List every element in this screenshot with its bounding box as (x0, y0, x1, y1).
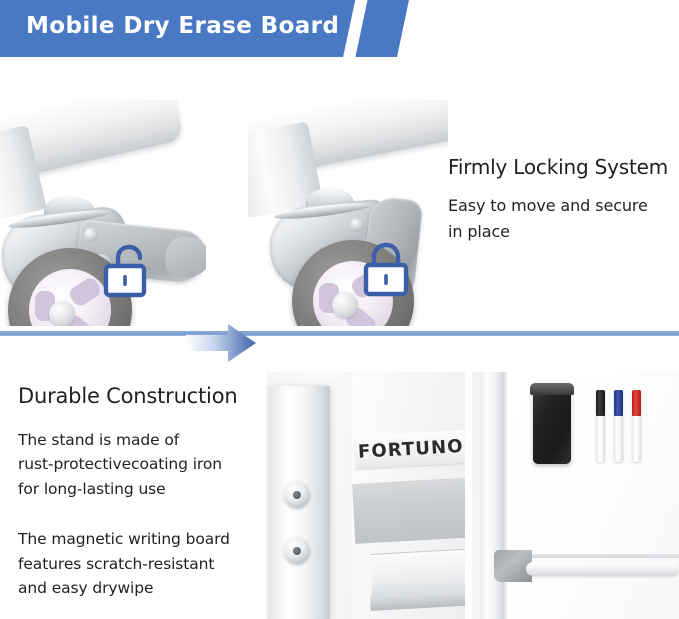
marker-red (632, 390, 641, 462)
eraser-accessory (533, 386, 571, 464)
caster-wheel-cap (49, 301, 75, 326)
paragraph-2-line-1: The magnetic writing board (18, 527, 264, 551)
durable-construction-section: Durable Construction The stand is made o… (0, 372, 679, 619)
stand-knob-lower (284, 538, 310, 564)
paragraph-1-line-2: rust-protectivecoating iron (18, 452, 264, 476)
durable-construction-text-block: Durable Construction The stand is made o… (18, 384, 264, 601)
caster-rivet (84, 228, 98, 242)
locking-system-heading: Firmly Locking System (448, 155, 674, 180)
whiteboard-bottom-rail (507, 554, 679, 558)
whiteboard-pen-tray (526, 562, 679, 576)
marker-cap (632, 390, 641, 416)
stand-knob-upper (284, 482, 310, 508)
locking-system-text-block: Firmly Locking System Easy to move and s… (448, 155, 674, 245)
arrow-right-icon (186, 322, 256, 368)
stand-photo: FORTUNO (266, 372, 465, 619)
paragraph-2-line-2: features scratch-resistant (18, 552, 264, 576)
padlock-closed-icon (362, 240, 412, 302)
header-banner: Mobile Dry Erase Board (0, 0, 409, 57)
locking-system-body-line-2: in place (448, 219, 674, 245)
locking-system-section: Firmly Locking System Easy to move and s… (0, 100, 679, 333)
stand-vertical-post (268, 386, 330, 619)
caster-photo-locked (248, 100, 448, 326)
page-title: Mobile Dry Erase Board (26, 13, 339, 39)
paragraph-2-line-3: and easy drywipe (18, 576, 264, 600)
padlock-open-icon (102, 242, 156, 304)
durable-construction-paragraph-2: The magnetic writing board features scra… (18, 527, 264, 600)
paragraph-1-line-1: The stand is made of (18, 428, 264, 452)
durable-construction-heading: Durable Construction (18, 384, 264, 408)
marker-black (596, 390, 605, 462)
stand-gray-crossbar (352, 478, 465, 544)
paragraph-1-line-3: for long-lasting use (18, 477, 264, 501)
whiteboard-photo (472, 372, 679, 619)
marker-cap (614, 390, 623, 416)
locking-system-body-line-1: Easy to move and secure (448, 193, 674, 219)
durable-construction-paragraph-1: The stand is made of rust-protectivecoat… (18, 428, 264, 501)
brand-label: FORTUNO (358, 436, 465, 463)
section-divider (0, 331, 679, 336)
wheel-spoke (67, 276, 103, 309)
locking-system-body: Easy to move and secure in place (448, 193, 674, 245)
marker-blue (614, 390, 623, 462)
caster-rivet (350, 218, 364, 232)
marker-cap (596, 390, 605, 416)
brand-plate: FORTUNO (354, 430, 465, 469)
